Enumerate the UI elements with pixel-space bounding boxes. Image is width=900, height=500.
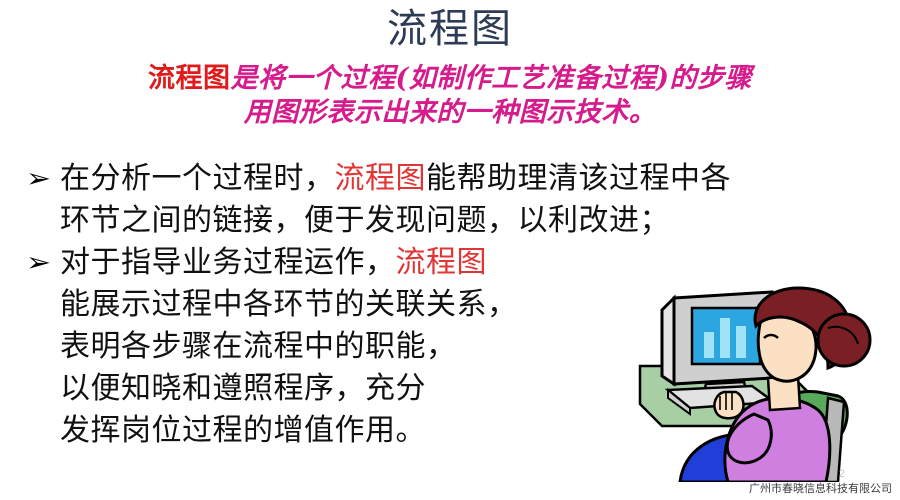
footer-company-name: 广州市春晓信息科技有限公司 (749, 482, 892, 496)
bullet-1-line-2-text: 环节之间的链接，便于发现问题，以利改进； (60, 204, 670, 237)
bullet-2-text-pre: 对于指导业务过程运作， (60, 246, 396, 279)
subtitle-highlight: 流程图 (148, 63, 231, 94)
bullet-2-sub-2-text: 表明各步骤在流程中的职能， (60, 330, 457, 363)
subtitle-line1-rest: 是将一个过程(如制作工艺准备过程)的步骤 (230, 63, 752, 94)
bullet-2-line-1: ➢对于指导业务过程运作，流程图 (26, 242, 876, 284)
bullet-1-line-2: 环节之间的链接，便于发现问题，以利改进； (26, 200, 876, 242)
woman-at-computer-clipart (632, 286, 900, 482)
hair-bun (818, 314, 870, 366)
bullet-1-highlight: 流程图 (335, 162, 427, 195)
screen-bar-3 (736, 326, 746, 358)
bullet-arrow-icon: ➢ (26, 158, 65, 200)
bullet-2-sub-4-text: 发挥岗位过程的增值作用。 (60, 414, 426, 447)
subtitle-block: 流程图是将一个过程(如制作工艺准备过程)的步骤 用图形表示出来的一种图示技术。 (0, 62, 900, 130)
bullet-item-1: ➢在分析一个过程时，流程图能帮助理清该过程中各 环节之间的链接，便于发现问题，以… (26, 158, 876, 242)
bullet-2-highlight: 流程图 (396, 246, 488, 279)
monitor-bevel (662, 298, 674, 384)
subtitle-line2: 用图形表示出来的一种图示技术。 (0, 96, 900, 130)
screen-bar-1 (704, 332, 714, 358)
bullet-1-text-post: 能帮助理清该过程中各 (426, 162, 731, 195)
screen-bar-2 (720, 318, 730, 358)
hand (714, 392, 743, 418)
slide-canvas: 流程图 流程图是将一个过程(如制作工艺准备过程)的步骤 用图形表示出来的一种图示… (0, 0, 900, 500)
bullet-arrow-icon: ➢ (26, 242, 65, 284)
bullet-2-sub-3-text: 以便知晓和遵照程序，充分 (60, 372, 426, 405)
bullet-1-text-pre: 在分析一个过程时， (60, 162, 335, 195)
bullet-1-line-1: ➢在分析一个过程时，流程图能帮助理清该过程中各 (26, 158, 876, 200)
page-title: 流程图 (0, 6, 900, 52)
bullet-2-sub-1-text: 能展示过程中各环节的关联关系， (60, 288, 518, 321)
page-number: 2 (839, 468, 845, 480)
